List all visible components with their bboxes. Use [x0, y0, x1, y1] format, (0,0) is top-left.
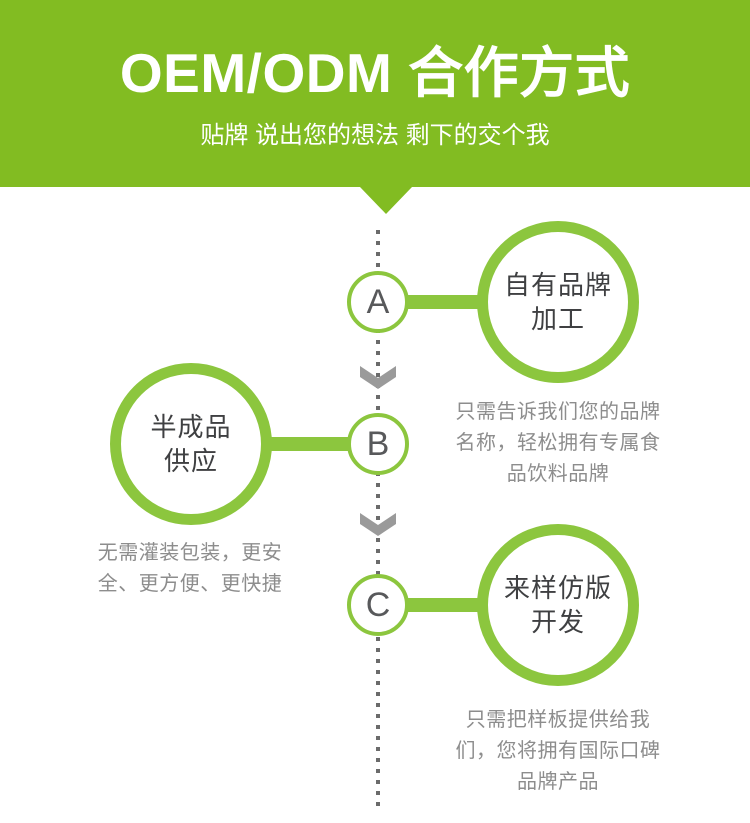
step-b-title-line2: 供应 — [164, 446, 218, 476]
step-b-title-line1: 半成品 — [150, 412, 231, 442]
step-caption-c: 只需把样板提供给我 们，您将拥有国际口碑 品牌产品 — [443, 705, 673, 798]
step-caption-b: 无需灌装包装，更安 全、更方便、更快捷 — [65, 538, 315, 600]
oem-odm-infographic: OEM/ODM 合作方式 贴牌 说出您的想法 剩下的交个我 A 自有品牌 加工 … — [0, 0, 750, 823]
page-title: OEM/ODM 合作方式 — [0, 41, 750, 105]
step-letter-b[interactable]: B — [347, 413, 409, 475]
step-c-caption-line2: 们，您将拥有国际口碑 — [443, 736, 673, 767]
step-letter-c[interactable]: C — [347, 574, 409, 636]
step-c-title-line2: 开发 — [531, 607, 585, 637]
connector-bar-b — [262, 437, 355, 451]
step-a-caption-line2: 名称，轻松拥有专属食 — [443, 428, 673, 459]
down-arrow-icon — [358, 512, 398, 538]
step-circle-c-label: 来样仿版 开发 — [504, 571, 612, 639]
step-a-title-line2: 加工 — [531, 304, 585, 334]
step-letter-a[interactable]: A — [347, 271, 409, 333]
step-circle-b[interactable]: 半成品 供应 — [110, 363, 272, 525]
step-circle-c[interactable]: 来样仿版 开发 — [477, 524, 639, 686]
step-a-caption-line3: 品饮料品牌 — [443, 459, 673, 490]
step-c-caption-line1: 只需把样板提供给我 — [443, 705, 673, 736]
step-c-caption-line3: 品牌产品 — [443, 767, 673, 798]
step-b-caption-line2: 全、更方便、更快捷 — [65, 569, 315, 600]
step-c-title-line1: 来样仿版 — [504, 573, 612, 603]
down-arrow-icon — [358, 365, 398, 391]
step-a-title-line1: 自有品牌 — [504, 270, 612, 300]
step-a-caption-line1: 只需告诉我们您的品牌 — [443, 397, 673, 428]
step-caption-a: 只需告诉我们您的品牌 名称，轻松拥有专属食 品饮料品牌 — [443, 397, 673, 490]
step-circle-b-label: 半成品 供应 — [150, 410, 231, 478]
step-circle-a-label: 自有品牌 加工 — [504, 268, 612, 336]
page-subtitle: 贴牌 说出您的想法 剩下的交个我 — [0, 120, 750, 152]
banner-notch-triangle — [360, 187, 412, 214]
step-circle-a[interactable]: 自有品牌 加工 — [477, 221, 639, 383]
step-b-caption-line1: 无需灌装包装，更安 — [65, 538, 315, 569]
